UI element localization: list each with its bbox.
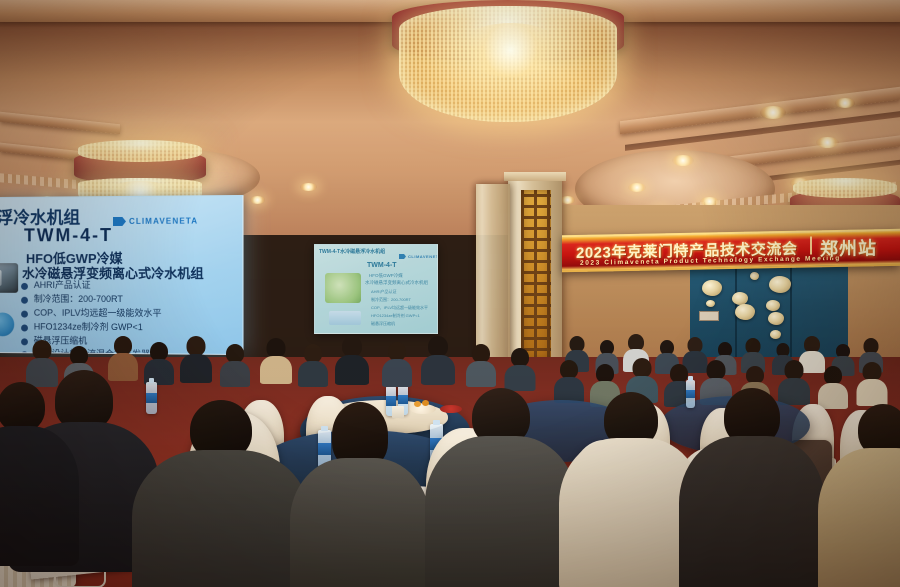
chandelier-crystals xyxy=(78,140,202,162)
column-capital xyxy=(504,172,566,181)
attendee xyxy=(384,342,410,384)
downlight xyxy=(816,137,839,148)
main-projection-screen: 浮冷水机组 CLIMAVENETA TWM-4-T HFO低GWP冷媒 水冷磁悬… xyxy=(0,195,244,355)
brand-name: CLIMAVENETA xyxy=(129,216,198,225)
side-slide-bullet: HFO1234ze制冷剂 GWP<1 xyxy=(371,313,420,319)
attendee xyxy=(146,342,172,382)
column-lattice-panel xyxy=(521,190,551,362)
banner-divider xyxy=(810,236,812,254)
downlight xyxy=(760,106,786,119)
wall-sign xyxy=(699,311,719,321)
side-slide-bullet: COP、IPLV均远超一级能效水平 xyxy=(371,305,428,311)
slide-bullet: HFO1234ze制冷剂 GWP<1 xyxy=(34,320,143,334)
attendee xyxy=(506,348,533,388)
climaveneta-mark-icon xyxy=(399,254,406,259)
downlight xyxy=(835,98,855,108)
brand-name: CLIMAVENETA xyxy=(408,254,438,259)
attendee-foreground xyxy=(828,404,900,584)
decorative-column xyxy=(476,184,510,368)
attendee-foreground xyxy=(0,382,66,542)
event-banner: 2023年克莱门特产品技术交流会 2023 Climaveneta Produc… xyxy=(562,229,900,272)
side-slide-caption-box xyxy=(329,311,361,325)
attendee xyxy=(820,366,846,406)
slide-bullet: 制冷范围：200-700RT xyxy=(34,292,123,305)
side-slide-bullet: AHRI产品认证 xyxy=(371,289,397,295)
side-slide-subtitle-2: 水冷磁悬浮变频离心式冷水机组 xyxy=(365,280,428,286)
slide-bullet: AHRI产品认证 xyxy=(34,278,91,291)
attendee-foreground xyxy=(570,392,692,578)
attendee-foreground xyxy=(436,388,566,578)
wall-medallion xyxy=(768,312,784,325)
attendee-foreground xyxy=(146,400,296,587)
attendee xyxy=(424,336,452,382)
fruit xyxy=(422,400,429,406)
downlight xyxy=(672,155,694,166)
attendee xyxy=(468,344,494,384)
main-chandelier xyxy=(392,0,624,128)
downlight xyxy=(300,183,317,191)
downlight xyxy=(560,196,575,204)
chandelier-crystals xyxy=(793,178,896,198)
attendee xyxy=(300,344,326,384)
wall-medallion xyxy=(769,276,791,293)
downlight xyxy=(628,183,646,192)
side-slide-bullet: 磁悬浮压缩机 xyxy=(371,321,395,327)
wall-medallion xyxy=(766,300,780,311)
side-slide-model: TWM-4-T xyxy=(367,262,397,269)
side-slide-title: TWM-4-T水冷磁悬浮冷水机组 xyxy=(319,248,385,255)
side-slide-product-image xyxy=(325,273,361,303)
attendee xyxy=(222,344,248,384)
attendee xyxy=(262,338,289,381)
conference-hall-photo: 2023年克莱门特产品技术交流会 2023 Climaveneta Produc… xyxy=(0,0,900,587)
slide-brand-logo: CLIMAVENETA xyxy=(113,216,198,226)
wall-medallion xyxy=(735,304,755,320)
wall-medallion xyxy=(750,272,759,280)
slide-product-image xyxy=(0,263,18,293)
attendee-foreground xyxy=(300,402,420,582)
wall-medallion xyxy=(702,280,722,296)
secondary-projection-screen: TWM-4-T水冷磁悬浮冷水机组 CLIMAVENETA TWM-4-T HFO… xyxy=(314,244,438,334)
wall-medallion xyxy=(706,300,715,307)
banner-city: 郑州站 xyxy=(820,234,877,261)
attendee xyxy=(858,362,885,403)
side-slide-brand-logo: CLIMAVENETA xyxy=(399,254,438,259)
slide-model: TWM-4-T xyxy=(24,225,113,246)
wall-medallion xyxy=(770,330,781,339)
attendee-foreground xyxy=(690,388,814,578)
downlight xyxy=(250,196,265,204)
slide-accent-circle xyxy=(0,313,14,337)
slide-bullet: COP、IPLV均远超一级能效水平 xyxy=(34,306,162,319)
side-slide-bullet: 制冷范围：200-700RT xyxy=(371,297,411,303)
side-slide-subtitle-1: HFO低GWP冷媒 xyxy=(369,273,403,279)
attendee xyxy=(338,336,366,382)
attendee xyxy=(182,336,209,380)
chandelier-glow xyxy=(457,23,564,77)
climaveneta-mark-icon xyxy=(113,217,126,226)
